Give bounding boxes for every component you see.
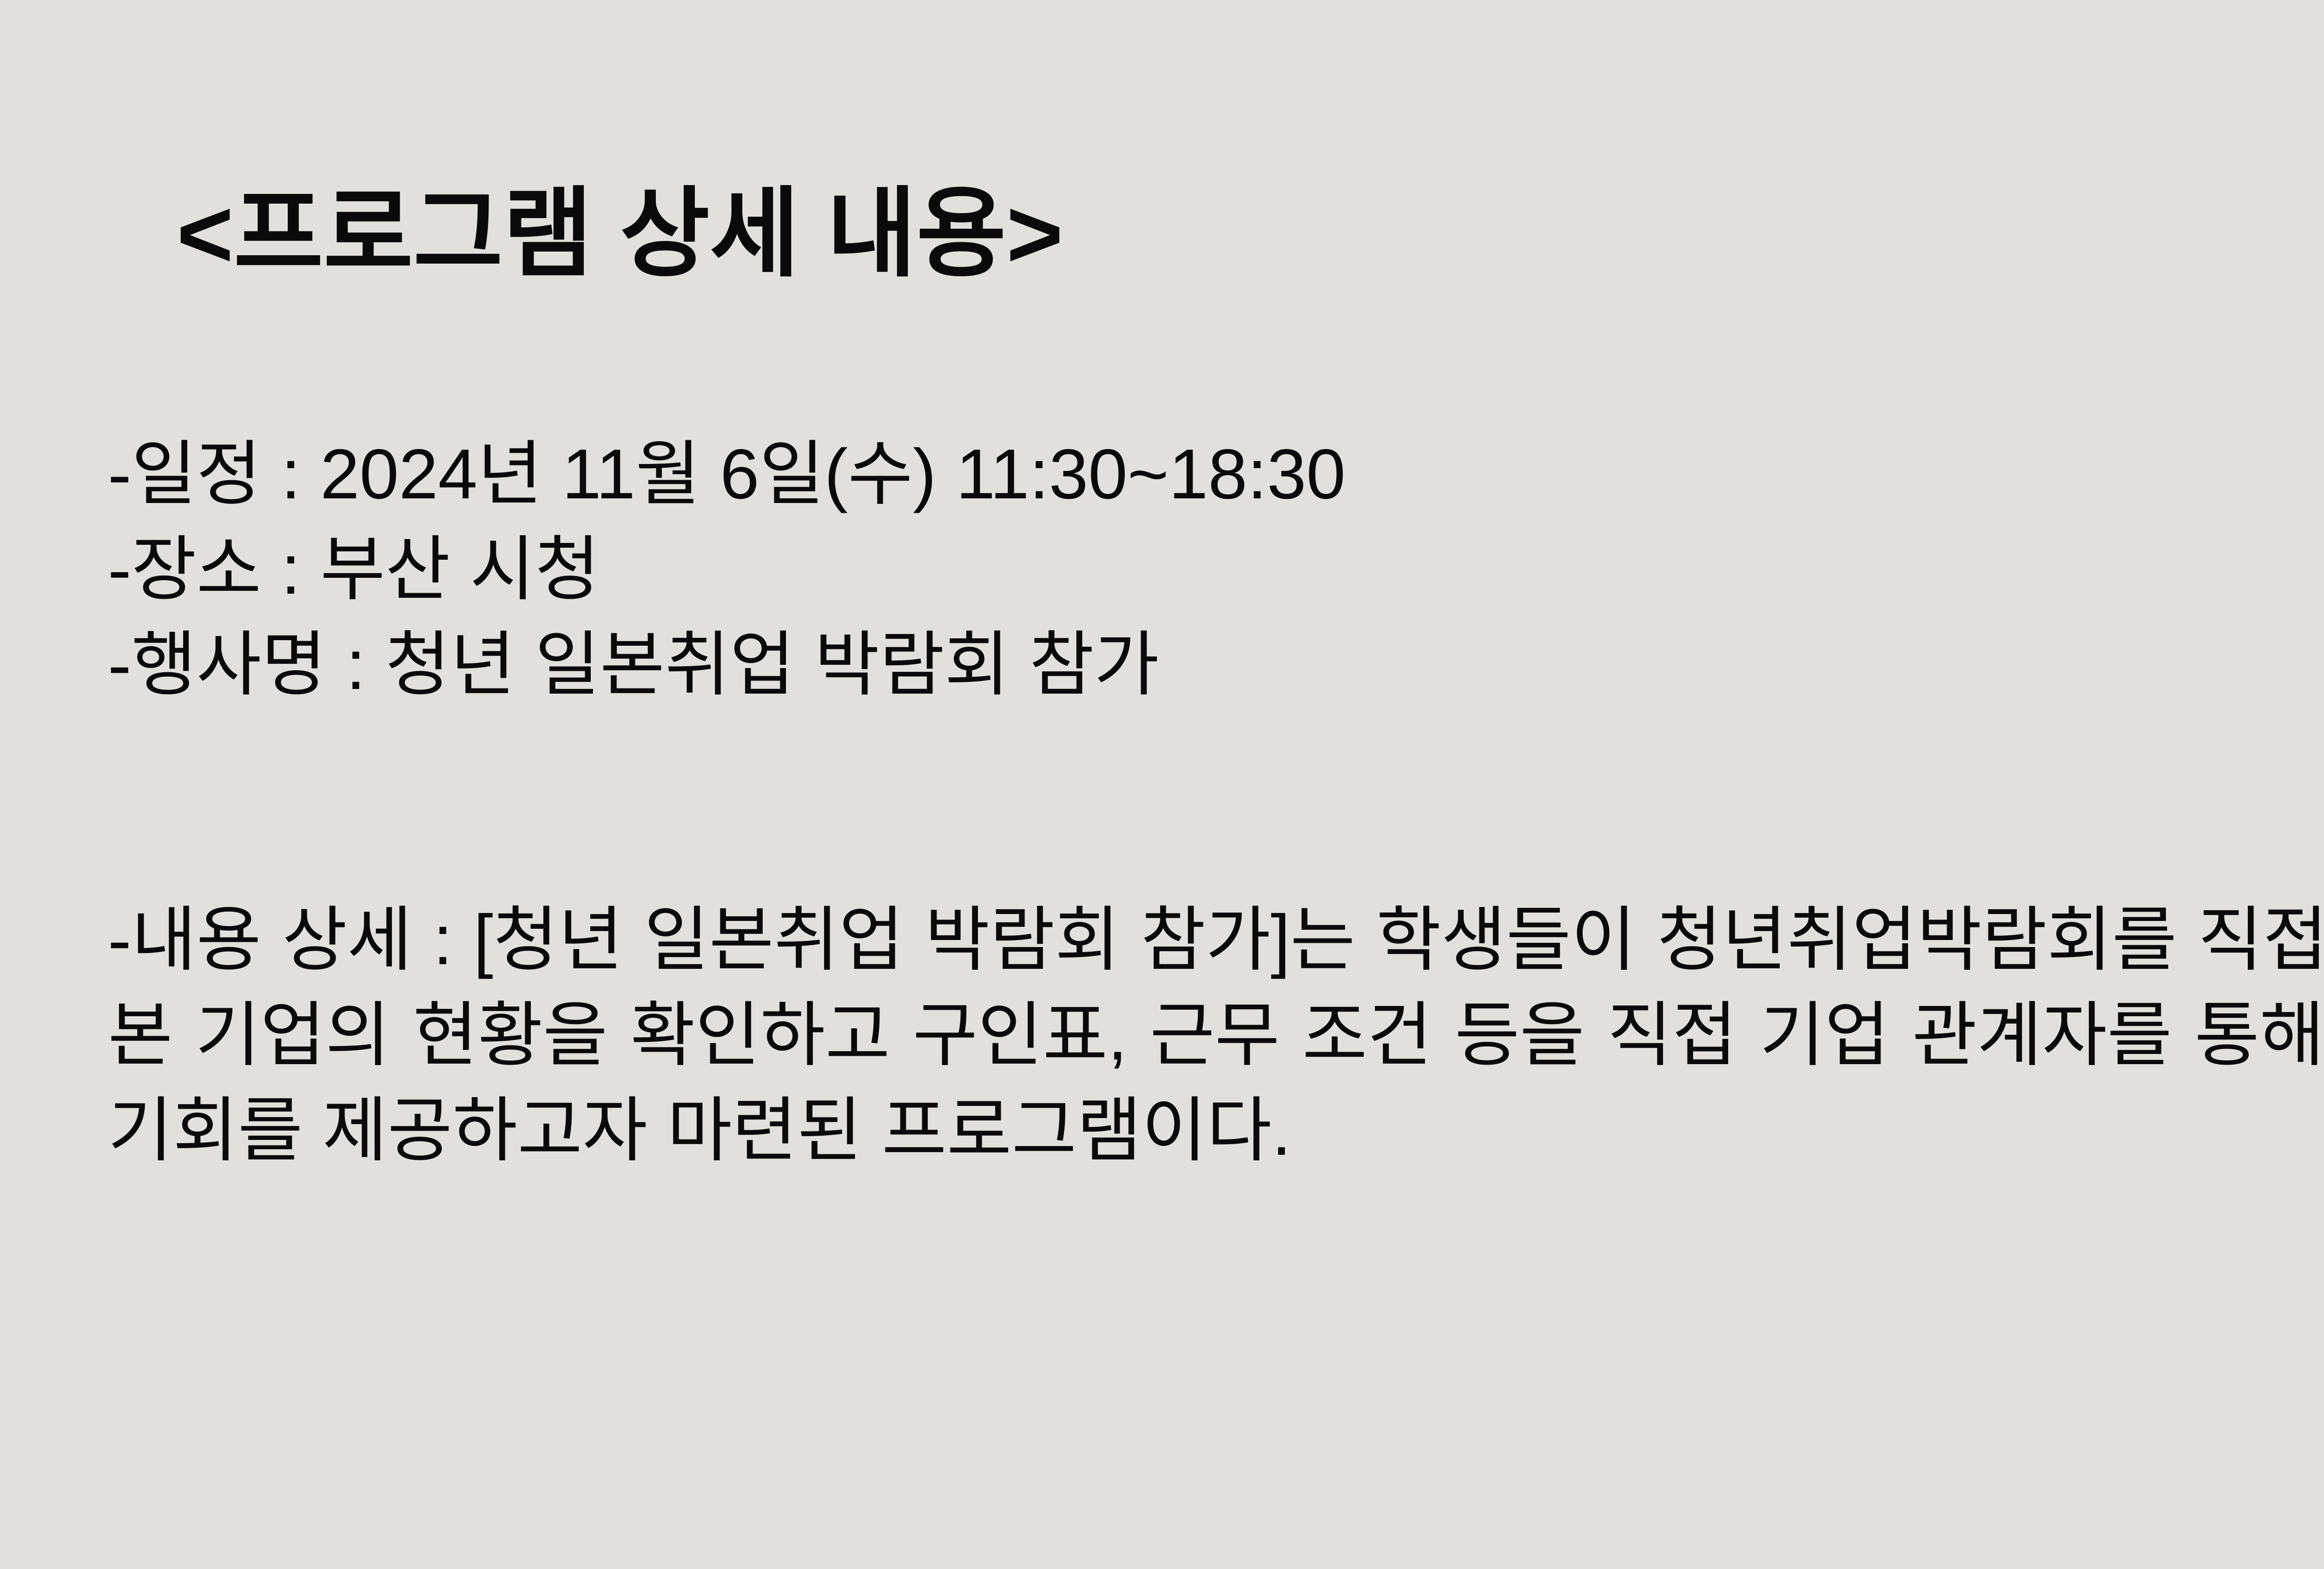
program-description-text: -내용 상세 : [청년 일본취업 박람회 참가]는 학생들이 청년취업박람회를… <box>108 900 2324 1170</box>
slide-canvas: <프로그램 상세 내용> -일정 : 2024년 11월 6일(수) 11:30… <box>0 0 2324 1569</box>
detail-line-event-name: -행사명 : 청년 일본취업 박람회 참가 <box>108 617 2324 713</box>
detail-line-schedule: -일정 : 2024년 11월 6일(수) 11:30~18:30 <box>108 427 2324 522</box>
page-title: <프로그램 상세 내용> <box>177 176 1063 291</box>
program-description: -내용 상세 : [청년 일본취업 박람회 참가]는 학생들이 청년취업박람회를… <box>108 893 2324 1178</box>
program-details-block: -일정 : 2024년 11월 6일(수) 11:30~18:30 -장소 : … <box>108 427 2324 713</box>
detail-line-location: -장소 : 부산 시청 <box>108 522 2324 617</box>
